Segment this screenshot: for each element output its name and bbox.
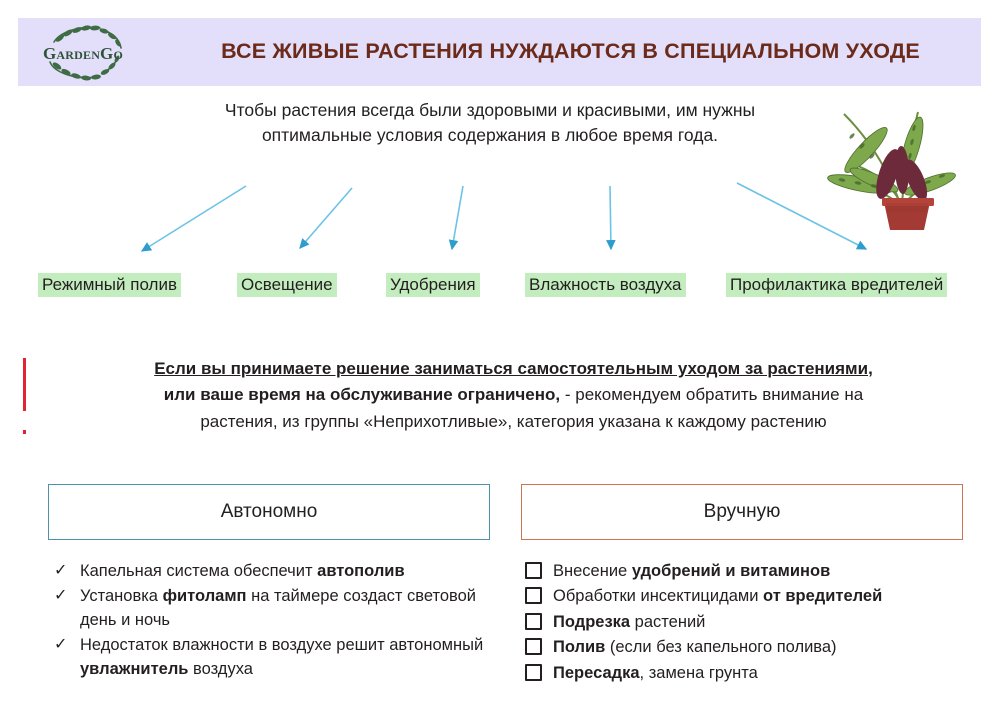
list-item: Внесение удобрений и витаминов	[521, 560, 981, 583]
care-tag-udobreniya[interactable]: Удобрения	[386, 273, 480, 297]
intro-line-2: оптимальные условия содержания в любое в…	[150, 123, 830, 148]
check-mark-icon: ✓	[54, 560, 74, 583]
arrow-to-tag-4	[610, 186, 611, 249]
callout-accent-dot	[23, 430, 26, 434]
brand-logo: GardenGo	[24, 22, 142, 84]
list-item-bold: Подрезка	[553, 613, 630, 631]
list-item-text: Недостаток влажности в воздухе решит авт…	[80, 636, 483, 677]
list-item: ✓ Капельная система обеспечит автополив	[48, 560, 503, 583]
brand-logo-text: GardenGo	[24, 44, 142, 64]
list-item-post: воздуха	[188, 660, 252, 678]
callout-line-2-bold: или ваше время на обслуживание ограничен…	[164, 385, 560, 404]
manual-list: Внесение удобрений и витаминов Обработки…	[521, 560, 981, 687]
list-item-text: Капельная система обеспечит автополив	[80, 562, 405, 580]
checkbox-empty-icon[interactable]	[525, 562, 545, 586]
intro-paragraph: Чтобы растения всегда были здоровыми и к…	[150, 98, 830, 149]
list-item-pre: Недостаток влажности в воздухе решит авт…	[80, 636, 483, 654]
option-box-autonomous[interactable]: Автономно	[48, 484, 490, 540]
callout-paragraph: Если вы принимаете решение заниматься са…	[46, 356, 981, 435]
list-item-text: Внесение удобрений и витаминов	[553, 562, 830, 580]
list-item-text: Подрезка растений	[553, 613, 705, 631]
list-item: Полив (если без капельного полива)	[521, 636, 981, 659]
list-item-text: Полив (если без капельного полива)	[553, 638, 837, 656]
list-item-post: растений	[630, 613, 705, 631]
option-box-autonomous-title: Автономно	[221, 501, 318, 523]
check-mark-icon: ✓	[54, 585, 74, 608]
list-item-bold: Полив	[553, 638, 605, 656]
list-item-text: Установка фитоламп на таймере создаст св…	[80, 587, 476, 628]
arrow-to-tag-1	[142, 186, 246, 251]
list-item-pre: Установка	[80, 587, 163, 605]
callout-line-1: Если вы принимаете решение заниматься са…	[46, 356, 981, 382]
list-item: ✓ Установка фитоламп на таймере создаст …	[48, 585, 503, 632]
list-item-pre: Капельная система обеспечит	[80, 562, 317, 580]
list-item-bold: фитоламп	[163, 587, 247, 605]
care-tag-rezhimnyy-poliv[interactable]: Режимный полив	[38, 273, 181, 297]
autonomous-list: ✓ Капельная система обеспечит автополив …	[48, 560, 503, 683]
care-tag-osveshchenie[interactable]: Освещение	[237, 273, 337, 297]
list-item: Обработки инсектицидами от вредителей	[521, 585, 981, 608]
list-item-text: Обработки инсектицидами от вредителей	[553, 587, 882, 605]
check-mark-icon: ✓	[54, 634, 74, 657]
list-item-text: Пересадка, замена грунта	[553, 664, 758, 682]
checkbox-empty-icon[interactable]	[525, 587, 545, 611]
callout-line-3: растения, из группы «Неприхотливые», кат…	[46, 409, 981, 435]
callout-line-2: или ваше время на обслуживание ограничен…	[46, 382, 981, 408]
list-item-bold: удобрений и витаминов	[632, 562, 830, 580]
care-tag-profilaktika-vrediteley[interactable]: Профилактика вредителей	[726, 273, 947, 297]
option-box-manual-title: Вручную	[704, 501, 781, 523]
list-item-bold: Пересадка	[553, 664, 640, 682]
checkbox-empty-icon[interactable]	[525, 638, 545, 662]
list-item-pre: Обработки инсектицидами	[553, 587, 763, 605]
list-item-bold: автополив	[317, 562, 404, 580]
care-tag-vlazhnost-vozdukha[interactable]: Влажность воздуха	[525, 273, 686, 297]
list-item: ✓ Недостаток влажности в воздухе решит а…	[48, 634, 503, 681]
option-box-manual[interactable]: Вручную	[521, 484, 963, 540]
checkbox-empty-icon[interactable]	[525, 613, 545, 637]
callout-accent-bar	[23, 358, 26, 411]
list-item-pre: Внесение	[553, 562, 632, 580]
list-item-post: , замена грунта	[640, 664, 758, 682]
arrow-to-tag-3	[452, 186, 463, 249]
callout-line-2-rest: - рекомендуем обратить внимание на	[560, 385, 863, 404]
list-item: Пересадка, замена грунта	[521, 662, 981, 685]
list-item-bold: от вредителей	[763, 587, 882, 605]
page-title: ВСЕ ЖИВЫЕ РАСТЕНИЯ НУЖДАЮТСЯ В СПЕЦИАЛЬН…	[160, 18, 981, 86]
list-item: Подрезка растений	[521, 611, 981, 634]
care-tags-row: Режимный полив Освещение Удобрения Влажн…	[20, 273, 980, 299]
arrow-to-tag-2	[300, 188, 352, 248]
list-item-post: (если без капельного полива)	[605, 638, 836, 656]
checkbox-empty-icon[interactable]	[525, 664, 545, 688]
plant-photo	[822, 84, 982, 232]
list-item-bold: увлажнитель	[80, 660, 188, 678]
intro-line-1: Чтобы растения всегда были здоровыми и к…	[150, 98, 830, 123]
